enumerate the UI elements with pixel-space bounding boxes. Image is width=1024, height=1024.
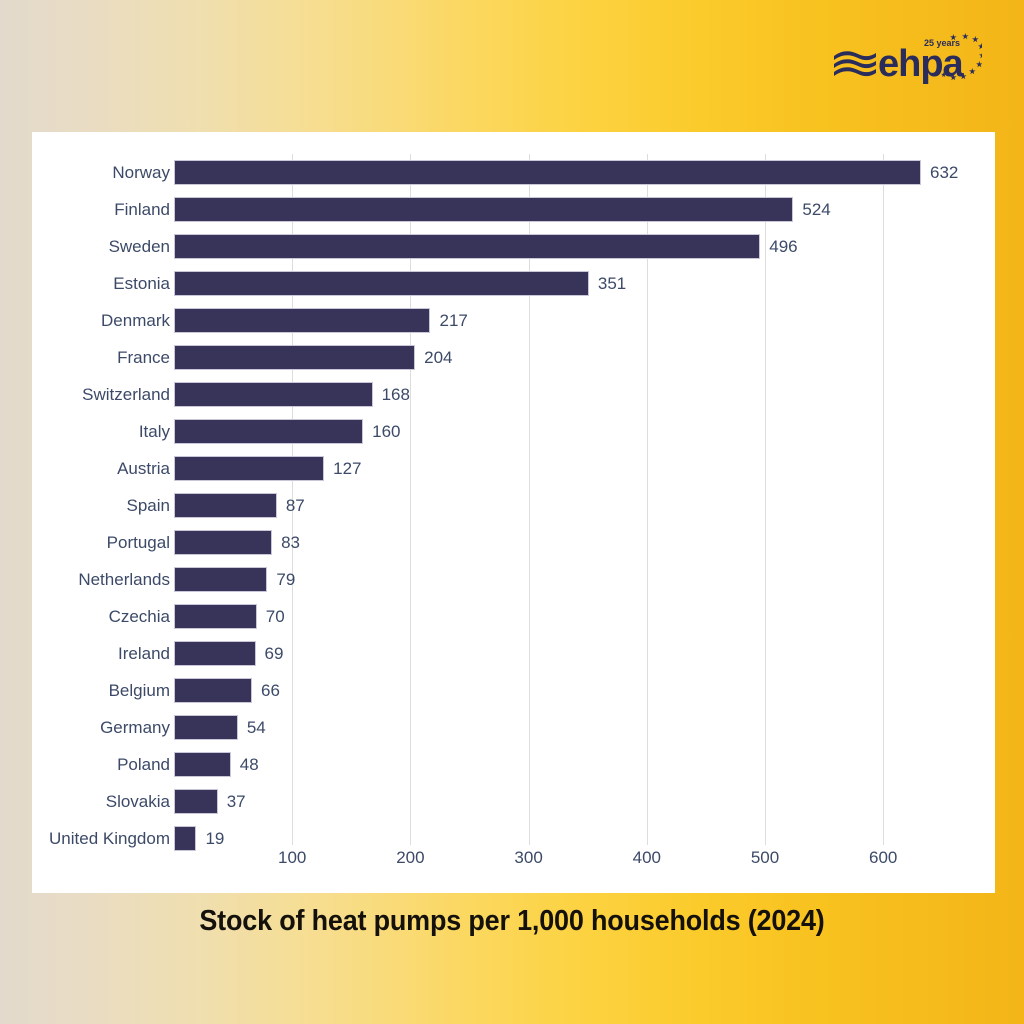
bar-value-label: 524 xyxy=(802,191,830,228)
chart-row: Czechia70 xyxy=(32,598,995,635)
category-label: Estonia xyxy=(113,265,170,302)
bar[interactable] xyxy=(174,345,415,370)
bar-value-label: 83 xyxy=(281,524,300,561)
bar-value-label: 632 xyxy=(930,154,958,191)
bar[interactable] xyxy=(174,678,252,703)
bar[interactable] xyxy=(174,197,793,222)
bar[interactable] xyxy=(174,308,430,333)
category-label: Norway xyxy=(112,154,170,191)
ehpa-logo: ehpa 25 years xyxy=(832,26,982,88)
bar[interactable] xyxy=(174,493,277,518)
bar-value-label: 204 xyxy=(424,339,452,376)
x-axis-tick-label: 400 xyxy=(633,848,661,868)
bar[interactable] xyxy=(174,234,760,259)
bar-value-label: 69 xyxy=(265,635,284,672)
bar[interactable] xyxy=(174,456,324,481)
chart-row: Austria127 xyxy=(32,450,995,487)
chart-row: Portugal83 xyxy=(32,524,995,561)
chart-row: Slovakia37 xyxy=(32,783,995,820)
bar[interactable] xyxy=(174,382,373,407)
category-label: Spain xyxy=(127,487,170,524)
chart-row: Denmark217 xyxy=(32,302,995,339)
bar-value-label: 66 xyxy=(261,672,280,709)
bar-value-label: 87 xyxy=(286,487,305,524)
bar[interactable] xyxy=(174,604,257,629)
chart-row: Sweden496 xyxy=(32,228,995,265)
category-label: Italy xyxy=(139,413,170,450)
category-label: Germany xyxy=(100,709,170,746)
bar[interactable] xyxy=(174,752,231,777)
chart-row: Spain87 xyxy=(32,487,995,524)
chart-row: Estonia351 xyxy=(32,265,995,302)
bar-value-label: 496 xyxy=(769,228,797,265)
bar[interactable] xyxy=(174,271,589,296)
bar-value-label: 160 xyxy=(372,413,400,450)
category-label: Portugal xyxy=(107,524,170,561)
bar[interactable] xyxy=(174,789,218,814)
category-label: Denmark xyxy=(101,302,170,339)
bar-value-label: 54 xyxy=(247,709,266,746)
chart-row: Italy160 xyxy=(32,413,995,450)
chart-row: France204 xyxy=(32,339,995,376)
chart-caption: Stock of heat pumps per 1,000 households… xyxy=(36,905,988,938)
bar[interactable] xyxy=(174,160,921,185)
bar-value-label: 168 xyxy=(382,376,410,413)
chart-row: Netherlands79 xyxy=(32,561,995,598)
bar-value-label: 48 xyxy=(240,746,259,783)
bar[interactable] xyxy=(174,641,256,666)
category-label: Sweden xyxy=(109,228,170,265)
category-label: Slovakia xyxy=(106,783,170,820)
category-label: Netherlands xyxy=(78,561,170,598)
chart-row: Switzerland168 xyxy=(32,376,995,413)
waves-icon xyxy=(834,51,876,76)
poster-root: ehpa 25 years xyxy=(0,0,1024,1024)
category-label: France xyxy=(117,339,170,376)
x-axis-tick-label: 200 xyxy=(396,848,424,868)
category-label: Czechia xyxy=(109,598,170,635)
ehpa-logo-svg: ehpa 25 years xyxy=(832,26,982,88)
chart-row: Finland524 xyxy=(32,191,995,228)
x-axis-tick-label: 100 xyxy=(278,848,306,868)
bar[interactable] xyxy=(174,715,238,740)
x-axis-tick-label: 300 xyxy=(514,848,542,868)
x-axis-tick-labels: 100200300400500600 xyxy=(32,848,995,878)
bar-value-label: 351 xyxy=(598,265,626,302)
chart-row: Germany54 xyxy=(32,709,995,746)
category-label: Finland xyxy=(114,191,170,228)
chart-row: Norway632 xyxy=(32,154,995,191)
bar[interactable] xyxy=(174,419,363,444)
category-label: Austria xyxy=(117,450,170,487)
logo-wordmark: ehpa xyxy=(878,43,965,85)
chart-row: Poland48 xyxy=(32,746,995,783)
bar-value-label: 79 xyxy=(276,561,295,598)
bar-chart: Norway632Finland524Sweden496Estonia351De… xyxy=(32,132,995,893)
bar[interactable] xyxy=(174,567,267,592)
category-label: Poland xyxy=(117,746,170,783)
category-label: Ireland xyxy=(118,635,170,672)
bar-value-label: 217 xyxy=(439,302,467,339)
category-label: Belgium xyxy=(109,672,170,709)
bar-value-label: 70 xyxy=(266,598,285,635)
chart-rows: Norway632Finland524Sweden496Estonia351De… xyxy=(32,154,995,857)
x-axis-tick-label: 600 xyxy=(869,848,897,868)
category-label: Switzerland xyxy=(82,376,170,413)
x-axis-tick-label: 500 xyxy=(751,848,779,868)
bar[interactable] xyxy=(174,530,272,555)
bar-value-label: 127 xyxy=(333,450,361,487)
bar-value-label: 37 xyxy=(227,783,246,820)
chart-panel: Norway632Finland524Sweden496Estonia351De… xyxy=(32,132,995,893)
chart-row: Ireland69 xyxy=(32,635,995,672)
chart-row: Belgium66 xyxy=(32,672,995,709)
